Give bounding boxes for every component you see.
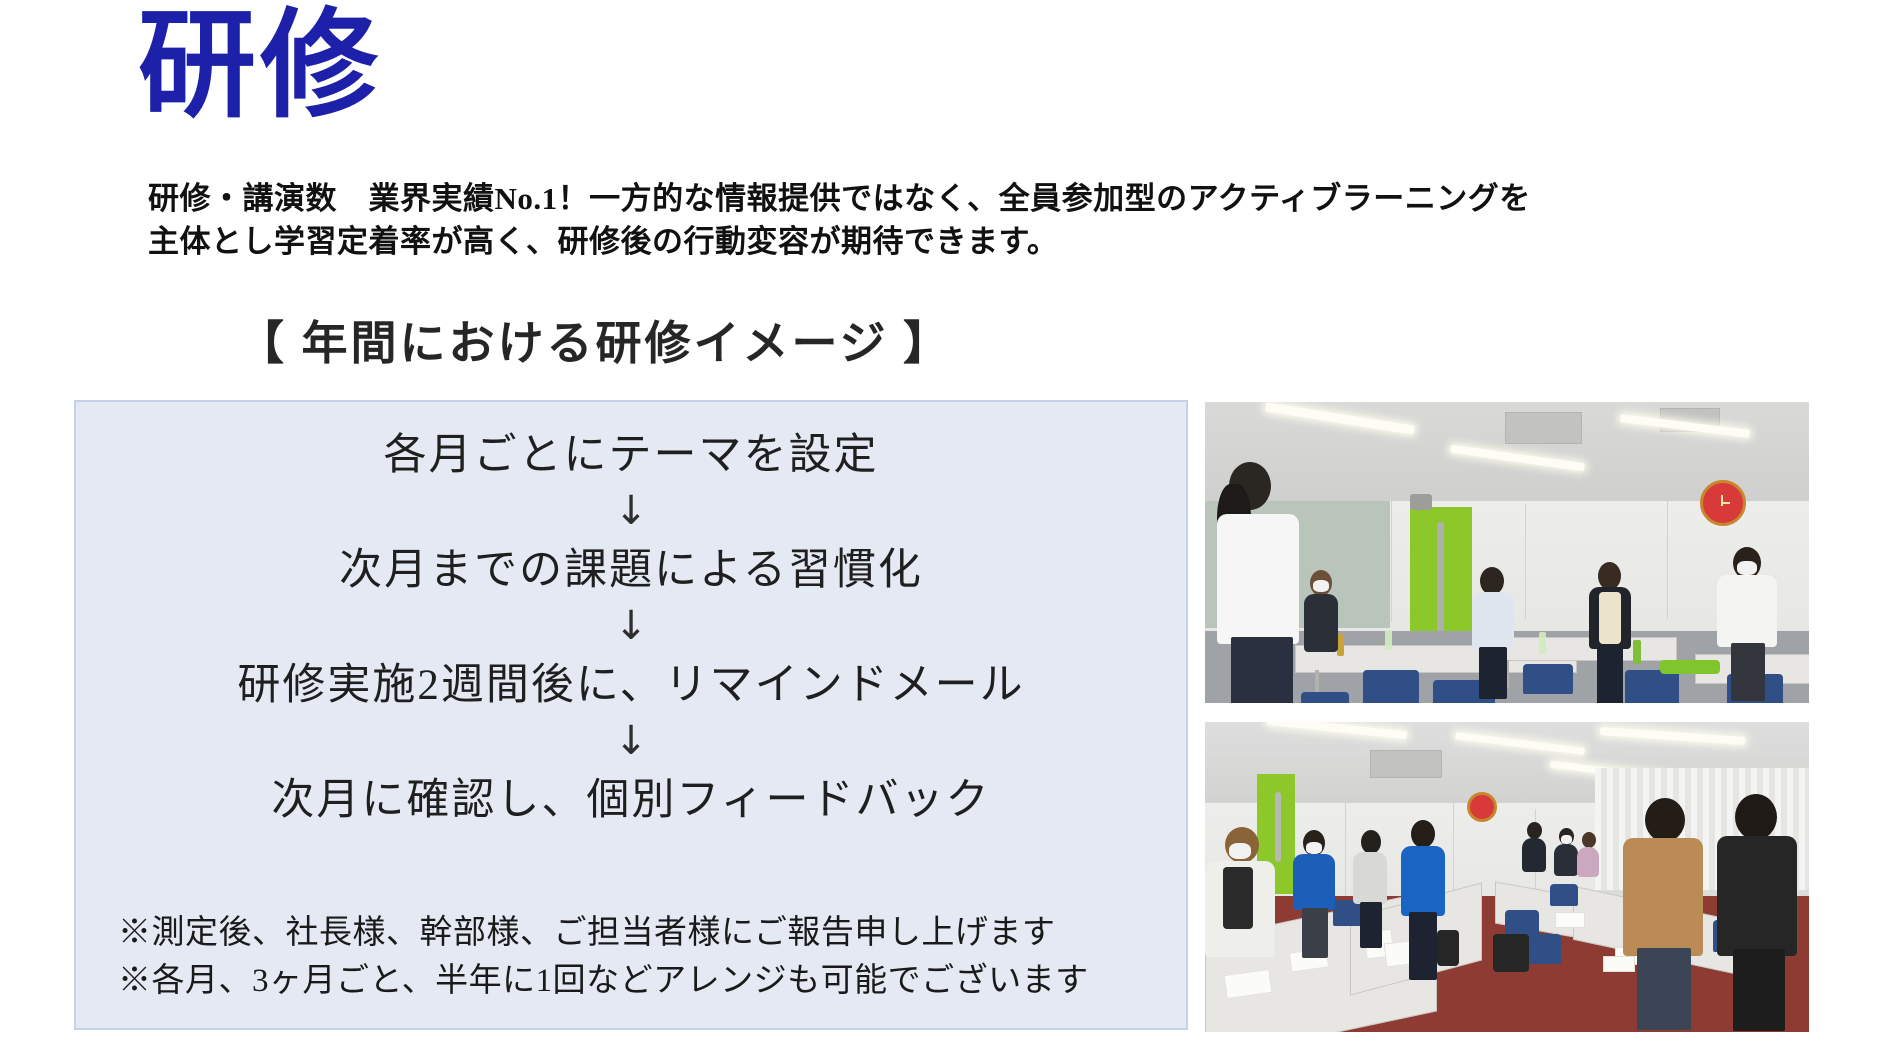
flow-step: 研修実施2週間後に、リマインドメール: [76, 652, 1186, 713]
flow-step: 各月ごとにテーマを設定: [76, 422, 1186, 483]
lead-line-1: 研修・講演数 業界実績No.1！一方的な情報提供ではなく、全員参加型のアクティブ…: [148, 178, 1788, 221]
flow-notes: ※測定後、社長様、幹部様、ご担当者様にご報告申し上げます ※各月、3ヶ月ごと、半…: [118, 910, 1158, 1006]
training-flow-panel: 各月ごとにテーマを設定 ↓ 次月までの課題による習慣化 ↓ 研修実施2週間後に、…: [74, 400, 1188, 1030]
flow-step-list: 各月ごとにテーマを設定 ↓ 次月までの課題による習慣化 ↓ 研修実施2週間後に、…: [76, 422, 1186, 828]
training-room-photo-top: [1205, 402, 1809, 703]
section-heading: 【 年間における研修イメージ 】: [0, 307, 1190, 373]
down-arrow-icon: ↓: [76, 713, 1186, 767]
flow-step: 次月に確認し、個別フィードバック: [76, 767, 1186, 828]
photo-bottom-scene: [1205, 722, 1809, 1032]
page-title: 研修: [138, 8, 382, 126]
down-arrow-icon: ↓: [76, 483, 1186, 537]
training-room-photo-bottom: [1205, 722, 1809, 1032]
photo-top-scene: [1205, 402, 1809, 703]
down-arrow-icon: ↓: [76, 598, 1186, 652]
flow-note: ※測定後、社長様、幹部様、ご担当者様にご報告申し上げます: [118, 910, 1158, 958]
flow-step: 次月までの課題による習慣化: [76, 537, 1186, 598]
lead-line-2: 主体とし学習定着率が高く、研修後の行動変容が期待できます。: [148, 221, 1788, 264]
lead-paragraph: 研修・講演数 業界実績No.1！一方的な情報提供ではなく、全員参加型のアクティブ…: [148, 178, 1788, 264]
flow-note: ※各月、3ヶ月ごと、半年に1回などアレンジも可能でございます: [118, 958, 1158, 1006]
